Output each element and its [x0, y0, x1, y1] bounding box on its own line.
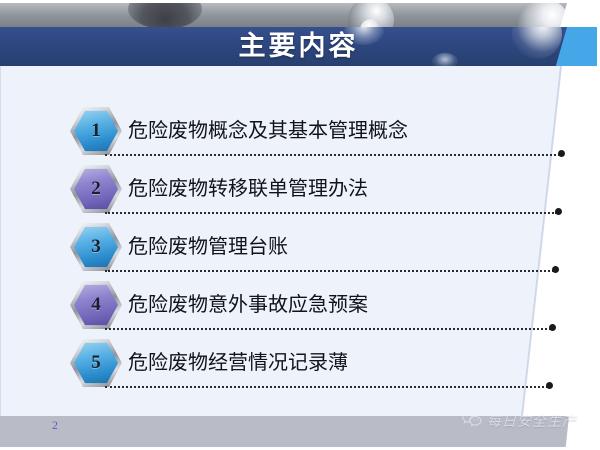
leader-dots	[105, 212, 557, 214]
list-item-number: 5	[70, 338, 122, 388]
slide-frame-top	[0, 0, 600, 3]
list-item-number: 4	[70, 280, 122, 330]
page-title: 主要内容	[0, 27, 597, 66]
slide-footer-band	[0, 416, 597, 447]
list-item-label: 危险废物意外事故应急预案	[128, 284, 368, 324]
leader-dots	[105, 154, 560, 156]
slide-title-band: 主要内容	[0, 27, 597, 66]
list-item-label: 危险废物管理台账	[128, 226, 288, 266]
leader-end-dot-icon	[552, 266, 559, 273]
list-item-number: 3	[70, 222, 122, 272]
page-number: 2	[52, 418, 58, 433]
leader-dots	[105, 328, 551, 330]
list-item-label: 危险废物经营情况记录薄	[128, 342, 348, 382]
leader-dots	[105, 270, 554, 272]
top-decorative-band	[0, 3, 597, 27]
footer-corner-cut	[566, 416, 597, 447]
hexagon-badge: 2	[70, 164, 122, 214]
bubble-decoration-icon	[360, 19, 382, 27]
list-item-number: 2	[70, 164, 122, 214]
list-item-label: 危险废物概念及其基本管理概念	[128, 110, 408, 150]
hexagon-badge: 3	[70, 222, 122, 272]
bubble-decoration-icon	[128, 3, 202, 27]
leader-end-dot-icon	[546, 382, 553, 389]
hexagon-badge: 5	[70, 338, 122, 388]
list-item-label: 危险废物转移联单管理办法	[128, 168, 368, 208]
leader-end-dot-icon	[558, 150, 565, 157]
leader-dots	[105, 386, 548, 388]
agenda-list: 1 危险废物概念及其基本管理概念 2 危险废物转移联单管理办法 3 危险废物管理…	[0, 66, 597, 416]
band-corner-cut	[560, 3, 597, 27]
hexagon-badge: 1	[70, 106, 122, 156]
hexagon-badge: 4	[70, 280, 122, 330]
leader-end-dot-icon	[549, 324, 556, 331]
presentation-slide: 主要内容 1 危险废物概念及其基本管理概念 2 危险废物转移联单管理办法	[0, 0, 600, 450]
list-item-number: 1	[70, 106, 122, 156]
leader-end-dot-icon	[555, 208, 562, 215]
bubble-decoration-icon	[348, 3, 394, 27]
